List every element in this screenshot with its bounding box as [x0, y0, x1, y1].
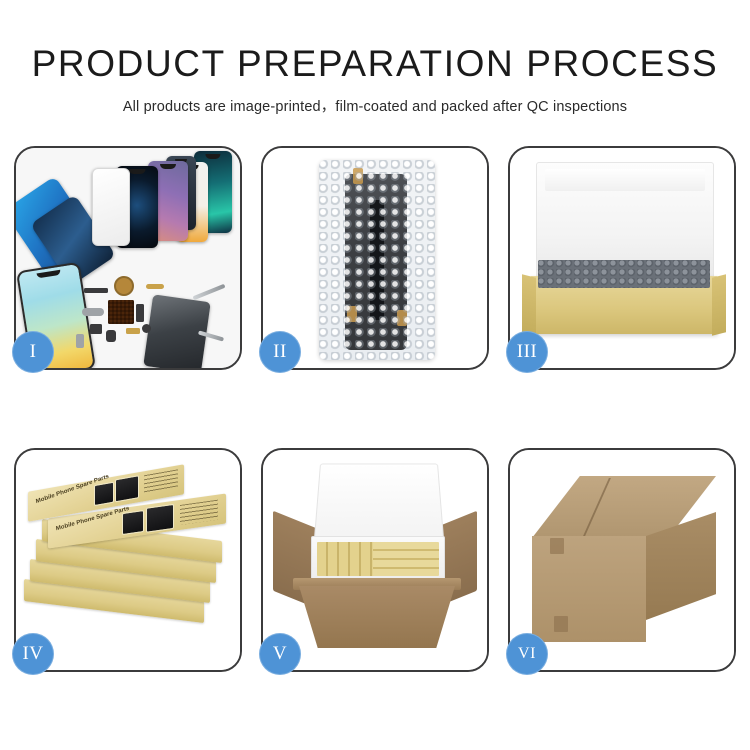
step-panel-6[interactable]: VI: [508, 448, 736, 672]
kraft-box-base: [530, 276, 718, 334]
antenna-strip: [82, 308, 104, 316]
vibrator-motor: [106, 330, 116, 342]
page-header: PRODUCT PREPARATION PROCESS All products…: [0, 0, 750, 116]
carton-tape-lower: [554, 616, 568, 632]
logic-board: [108, 300, 134, 324]
step-badge-5: V: [259, 633, 301, 675]
box-spec-lines-2: [180, 500, 218, 525]
carton-tape-upper: [550, 538, 564, 554]
step-badge-6: VI: [506, 633, 548, 675]
foam-cooler-lid: [314, 464, 445, 543]
speaker-component: [114, 276, 134, 296]
product-preparation-process-page: PRODUCT PREPARATION PROCESS All products…: [0, 0, 750, 750]
tape-tab-top: [353, 168, 363, 184]
connector-1: [136, 304, 144, 322]
step-badge-3: III: [506, 331, 548, 373]
step-panel-3[interactable]: III: [508, 146, 736, 370]
carton-body: [299, 586, 455, 648]
bubble-wrap-bag: [319, 160, 435, 360]
step-1-photo: [16, 148, 240, 368]
kraft-boxes-inside-row2: [373, 542, 439, 576]
step-panel-2[interactable]: II: [261, 146, 489, 370]
kraft-box-right-lip: [712, 274, 726, 335]
glass-protector: [92, 168, 130, 246]
box-window-1a: [94, 482, 114, 507]
kraft-box-left-lip: [522, 274, 536, 335]
step-badge-1: I: [12, 331, 54, 373]
screw-set: [142, 324, 151, 333]
step-6-photo: [510, 450, 734, 670]
flex-cable-1: [84, 288, 108, 293]
tape-tab-left: [347, 306, 357, 322]
tweezers-tool: [192, 284, 225, 300]
flex-cable-gold: [146, 284, 164, 289]
page-title: PRODUCT PREPARATION PROCESS: [0, 0, 750, 84]
step-badge-2: II: [259, 331, 301, 373]
page-subtitle: All products are image-printed，film-coat…: [0, 84, 750, 116]
step-badge-4: IV: [12, 633, 54, 675]
box-spec-lines-1: [144, 469, 178, 494]
tape-tab-right: [397, 310, 407, 326]
wrapped-flex-cable: [370, 200, 384, 320]
sim-tray: [76, 334, 84, 348]
gold-contact: [126, 328, 140, 334]
camera-module: [90, 324, 102, 334]
step-2-photo: [263, 148, 487, 368]
step-panel-5[interactable]: V: [261, 448, 489, 672]
step-4-photo: Mobile Phone Spare Parts Mobile Phone Sp…: [16, 450, 240, 670]
box-window-1b: [115, 475, 139, 502]
kraft-box-stack: Mobile Phone Spare Parts Mobile Phone Sp…: [24, 470, 236, 662]
box-window-2b: [146, 504, 174, 533]
step-3-photo: [510, 148, 734, 368]
step-panel-4[interactable]: Mobile Phone Spare Parts Mobile Phone Sp…: [14, 448, 242, 672]
process-steps-grid: I II: [14, 146, 736, 686]
bubble-wrap-fill: [538, 260, 710, 288]
box-window-2a: [122, 510, 144, 535]
step-5-photo: [263, 450, 487, 670]
step-panel-1[interactable]: I: [14, 146, 242, 370]
